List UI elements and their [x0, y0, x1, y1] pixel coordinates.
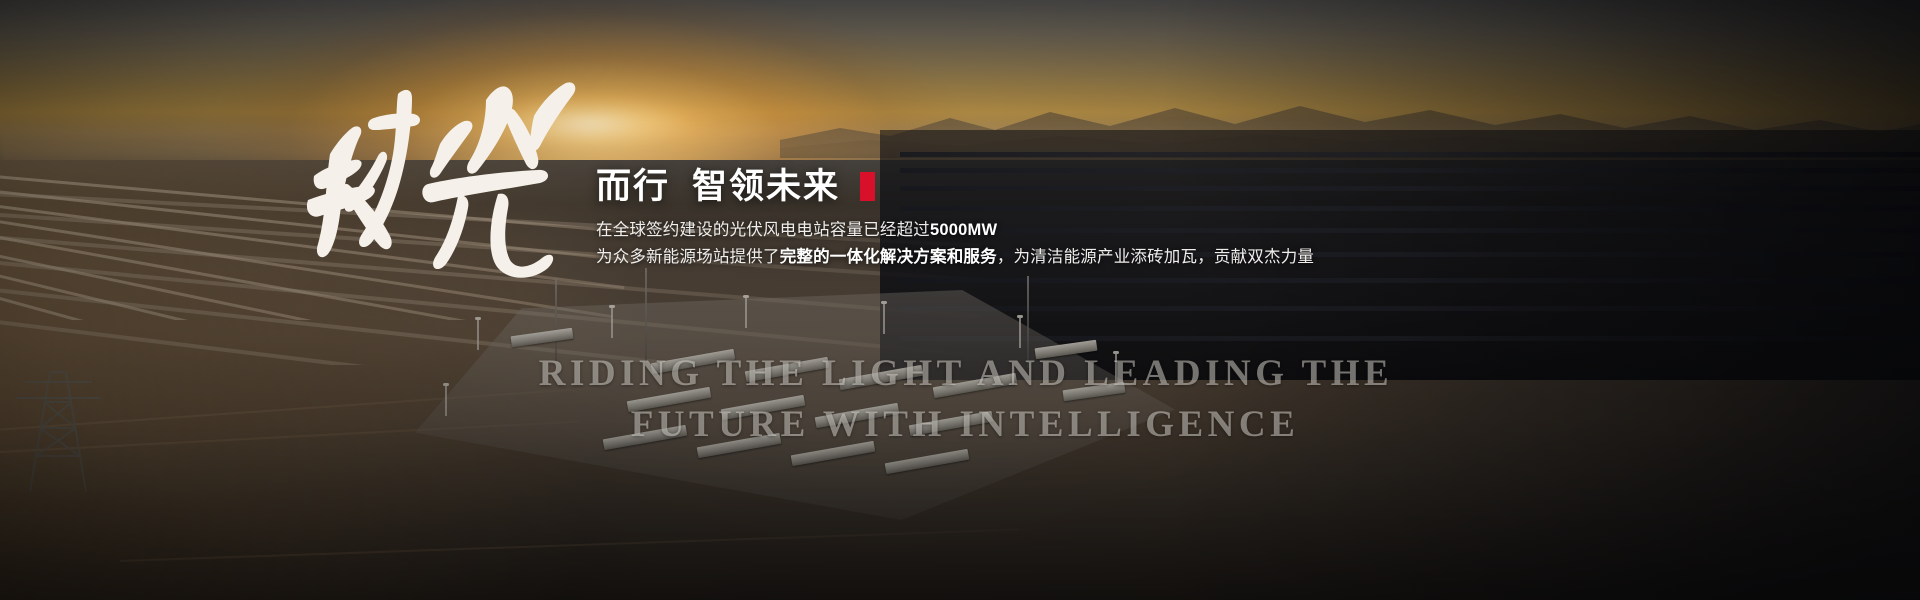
- hero-banner: 而行 智领未来 在全球签约建设的光伏风电电站容量已经超过5000MW 为众多新能…: [0, 0, 1920, 600]
- headline: 而行 智领未来: [596, 168, 1356, 206]
- headline-part2: 智领未来: [692, 168, 840, 206]
- subtitle-line2-post: ，为清洁能源产业添砖加瓦，贡献双杰力量: [997, 248, 1314, 266]
- subtitle: 在全球签约建设的光伏风电电站容量已经超过5000MW 为众多新能源场站提供了完整…: [596, 217, 1356, 270]
- banner-copy: 而行 智领未来 在全球签约建设的光伏风电电站容量已经超过5000MW 为众多新能…: [596, 168, 1356, 270]
- background-scene: [0, 0, 1920, 600]
- accent-block: [860, 172, 875, 201]
- subtitle-line-2: 为众多新能源场站提供了完整的一体化解决方案和服务，为清洁能源产业添砖加瓦，贡献双…: [596, 244, 1356, 271]
- right-side-darken: [1160, 0, 1920, 600]
- subtitle-line-1: 在全球签约建设的光伏风电电站容量已经超过5000MW: [596, 217, 1356, 244]
- subtitle-line2-strong: 完整的一体化解决方案和服务: [780, 248, 997, 266]
- subtitle-line2-pre: 为众多新能源场站提供了: [596, 248, 780, 266]
- subtitle-line1-text: 在全球签约建设的光伏风电电站容量已经超过: [596, 221, 930, 239]
- headline-part1: 而行: [596, 168, 670, 206]
- subtitle-line1-capacity: 5000MW: [930, 221, 997, 239]
